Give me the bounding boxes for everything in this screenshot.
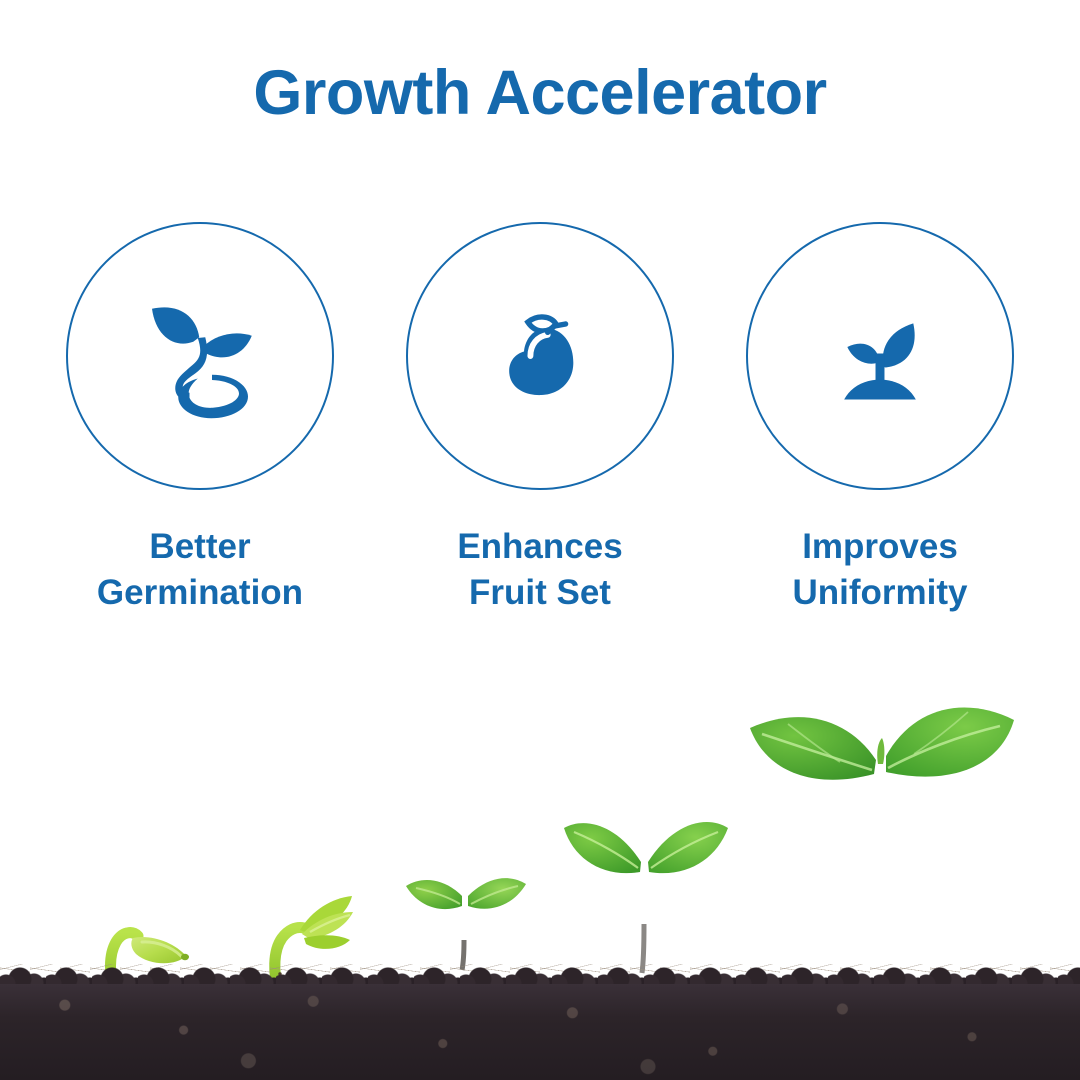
benefit-circle-3 xyxy=(746,222,1014,490)
page-title: Growth Accelerator xyxy=(0,62,1080,125)
infographic-page: Growth Accelerator xyxy=(0,0,1080,1080)
fruit-mango-icon xyxy=(476,292,604,420)
benefit-item-better-germination[interactable]: Better Germination xyxy=(30,222,370,616)
benefits-row: Better Germination xyxy=(0,222,1080,622)
benefit-label-2: Enhances Fruit Set xyxy=(457,524,622,616)
seedling-growth-stages-photo xyxy=(0,680,1080,1080)
benefit-item-improves-uniformity[interactable]: Improves Uniformity xyxy=(710,222,1050,616)
benefit-circle-2 xyxy=(406,222,674,490)
benefit-label-3: Improves Uniformity xyxy=(793,524,968,616)
benefit-circle-1 xyxy=(66,222,334,490)
stage-5-tall-seedling xyxy=(728,694,1028,994)
benefit-item-enhances-fruit-set[interactable]: Enhances Fruit Set xyxy=(370,222,710,616)
soil-bed xyxy=(0,984,1080,1080)
sprouting-seed-icon xyxy=(125,281,275,431)
benefit-label-1: Better Germination xyxy=(97,524,303,616)
seedling-in-soil-icon xyxy=(816,292,944,420)
